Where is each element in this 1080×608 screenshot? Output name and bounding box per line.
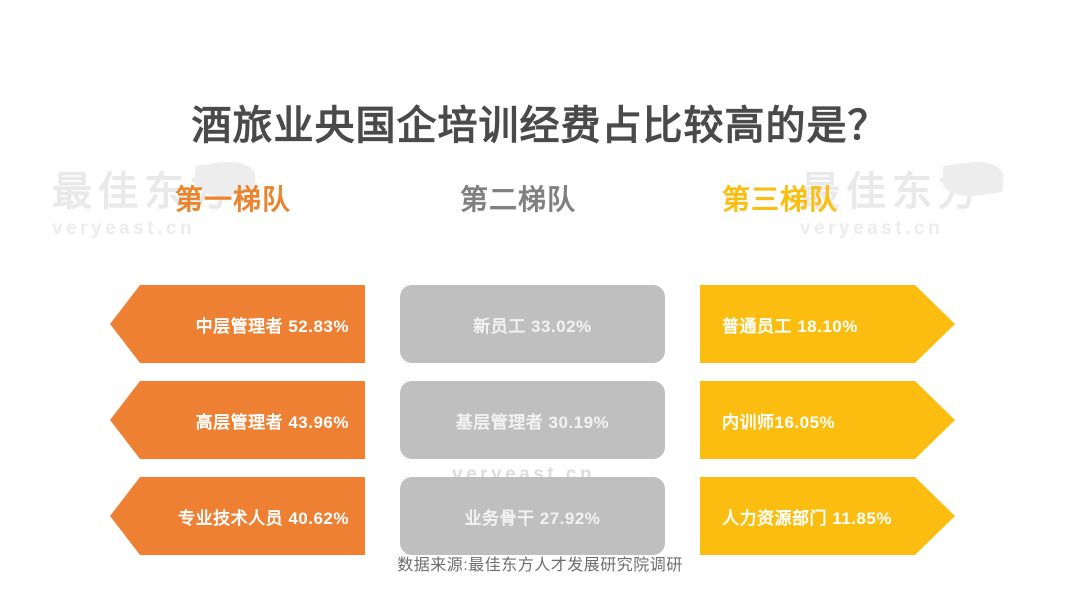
page-title: 酒旅业央国企培训经费占比较高的是？: [0, 93, 1080, 151]
tier-3-bar-3[interactable]: 人力资源部门 11.85%: [700, 477, 955, 555]
tier-2-header: 第二梯队: [400, 186, 690, 228]
tier-3-bar-1[interactable]: 普通员工 18.10%: [700, 285, 955, 363]
tier-3-header: 第三梯队: [700, 186, 960, 228]
tier-2-bar-3[interactable]: 业务骨干 27.92%: [400, 477, 665, 555]
data-source-note: 数据来源:最佳东方人才发展研究院调研: [0, 551, 1080, 575]
tier-2-bar-1[interactable]: 新员工 33.02%: [400, 285, 665, 363]
tier-column-2: 第二梯队 新员工 33.02% 基层管理者 30.19% 业务骨干 27.92%: [400, 186, 690, 526]
tier-1-header: 第一梯队: [110, 186, 365, 228]
tier-2-bar-2[interactable]: 基层管理者 30.19%: [400, 381, 665, 459]
tier-1-bar-1[interactable]: 中层管理者 52.83%: [110, 285, 365, 363]
infographic-canvas: 最佳东方 veryeast.cn 最佳东方 veryeast.cn 最佳东方 v…: [0, 0, 1080, 608]
tier-1-bar-3[interactable]: 专业技术人员 40.62%: [110, 477, 365, 555]
tier-column-1: 第一梯队 中层管理者 52.83% 高层管理者 43.96% 专业技术人员 40…: [110, 186, 365, 526]
tier-3-bar-2[interactable]: 内训师16.05%: [700, 381, 955, 459]
tier-1-bar-2[interactable]: 高层管理者 43.96%: [110, 381, 365, 459]
tier-column-3: 第三梯队 普通员工 18.10% 内训师16.05% 人力资源部门 11.85%: [700, 186, 960, 526]
tier-columns: 第一梯队 中层管理者 52.83% 高层管理者 43.96% 专业技术人员 40…: [0, 186, 1080, 526]
